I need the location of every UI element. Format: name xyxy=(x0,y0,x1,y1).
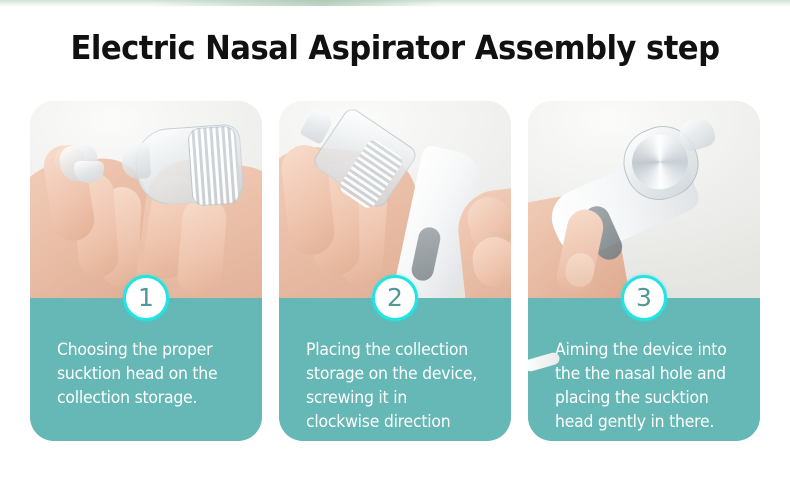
step-photo-3 xyxy=(528,101,760,299)
step-number-badge-2: 2 xyxy=(372,275,418,321)
photo-illustration-hands-parts xyxy=(30,101,262,299)
step-photo-2 xyxy=(279,101,511,299)
step-card-2: Placing the collection storage on the de… xyxy=(279,101,511,441)
step-card-3: Aiming the device into the the nasal hol… xyxy=(528,101,760,441)
step-number-2: 2 xyxy=(387,285,403,310)
step-caption-3: Aiming the device into the the nasal hol… xyxy=(555,338,732,434)
top-edge-gradient-accent xyxy=(150,0,440,6)
step-caption-2: Placing the collection storage on the de… xyxy=(306,338,483,434)
step-caption-1: Choosing the proper sucktion head on the… xyxy=(57,338,234,410)
collection-storage-threads-icon xyxy=(187,125,240,206)
photo-illustration-assembly xyxy=(279,101,511,299)
step-card-1: Choosing the proper sucktion head on the… xyxy=(30,101,262,441)
step-number-badge-1: 1 xyxy=(123,275,169,321)
step-number-3: 3 xyxy=(636,285,652,310)
photo-illustration-device xyxy=(528,101,760,299)
step-number-1: 1 xyxy=(138,285,154,310)
step-number-badge-3: 3 xyxy=(621,275,667,321)
steps-container: Choosing the proper sucktion head on the… xyxy=(30,101,761,441)
infographic-root: Electric Nasal Aspirator Assembly step xyxy=(0,0,790,498)
step-photo-1 xyxy=(30,101,262,299)
page-title: Electric Nasal Aspirator Assembly step xyxy=(28,28,763,67)
